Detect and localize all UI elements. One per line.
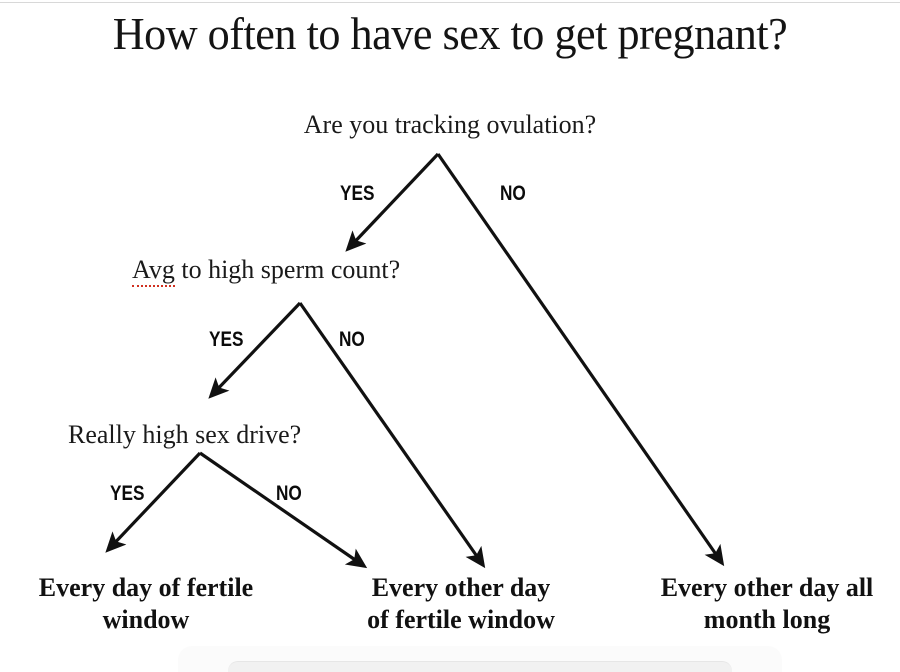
answer-line-2: of fertile window — [336, 604, 586, 636]
edge-label-q1-no: NO — [500, 183, 526, 204]
page-title: How often to have sex to get pregnant? — [18, 6, 882, 62]
answer-line-1: Every other day all — [640, 572, 894, 604]
edge-q2-no — [300, 303, 483, 565]
answer-node-every-other-day-all-month[interactable]: Every other day all month long — [640, 572, 894, 636]
flowchart-canvas: How often to have sex to get pregnant? A… — [0, 0, 900, 672]
question-node-sperm-count[interactable]: Avg to high sperm count? — [132, 255, 432, 285]
top-hairline — [0, 2, 900, 3]
answer-node-every-day-fertile-window[interactable]: Every day of fertile window — [10, 572, 282, 636]
question-node-sperm-count-rest: to high sperm count? — [175, 255, 400, 284]
edge-label-q1-yes: YES — [340, 183, 374, 204]
edge-q3-no — [200, 453, 364, 566]
answer-node-every-other-day-fertile-window[interactable]: Every other day of fertile window — [336, 572, 586, 636]
answer-line-2: month long — [640, 604, 894, 636]
edge-label-q2-no: NO — [339, 329, 365, 350]
edge-label-q3-no: NO — [276, 483, 302, 504]
edge-label-q2-yes: YES — [209, 329, 243, 350]
question-node-tracking-ovulation[interactable]: Are you tracking ovulation? — [288, 110, 612, 140]
edge-q1-no — [438, 154, 722, 563]
misspelled-word-avg: Avg — [132, 255, 175, 287]
answer-line-1: Every other day — [336, 572, 586, 604]
answer-line-1: Every day of fertile — [10, 572, 282, 604]
answer-line-2: window — [10, 604, 282, 636]
question-node-sex-drive[interactable]: Really high sex drive? — [68, 420, 324, 450]
bottom-panel-inner — [228, 661, 732, 672]
edge-label-q3-yes: YES — [110, 483, 144, 504]
